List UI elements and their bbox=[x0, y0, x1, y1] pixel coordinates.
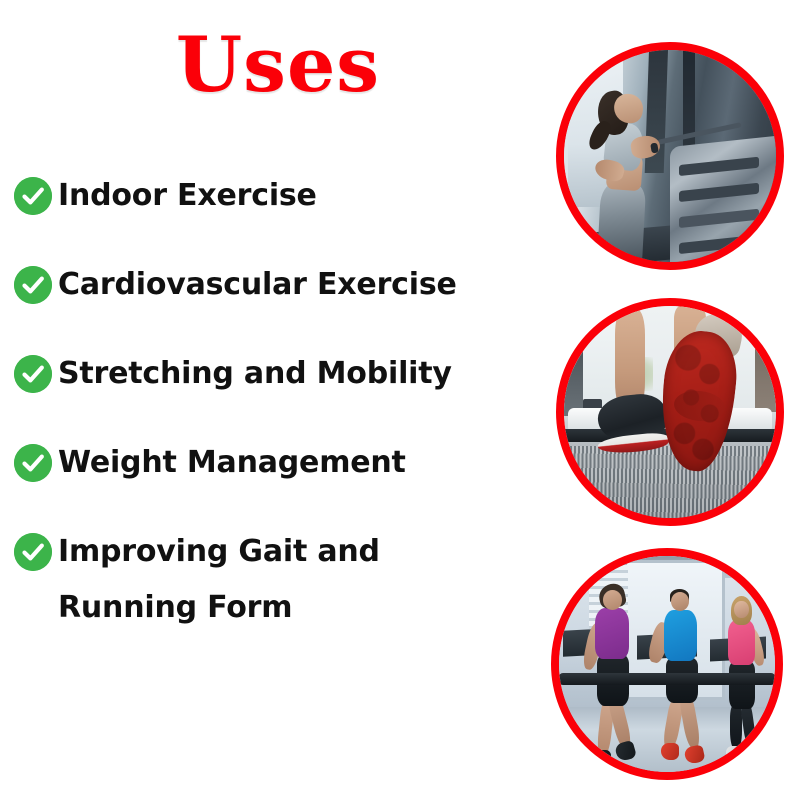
green-check-circle-icon bbox=[14, 444, 52, 482]
uses-checklist: Indoor Exercise Cardiovascular Exercise … bbox=[12, 168, 542, 636]
curtain-right bbox=[755, 306, 776, 412]
runner-tank-top bbox=[595, 608, 629, 659]
uses-infographic-poster: Uses Indoor Exercise Cardiovascular Exer… bbox=[0, 0, 800, 800]
list-item: Improving Gait and Running Form bbox=[12, 524, 542, 636]
runner-head bbox=[734, 601, 749, 619]
treadmill-console bbox=[670, 135, 776, 262]
list-item-label: Stretching and Mobility bbox=[58, 346, 542, 402]
green-check-circle-icon bbox=[14, 355, 52, 393]
runner-shoe-back bbox=[614, 740, 638, 763]
page-title: Uses bbox=[0, 22, 556, 108]
photo-running-shoes bbox=[556, 298, 784, 526]
runner-leg-front bbox=[730, 705, 741, 750]
list-item-label: Improving Gait and Running Form bbox=[58, 524, 542, 636]
green-check-circle-icon bbox=[14, 533, 52, 571]
green-check-circle-icon bbox=[14, 266, 52, 304]
photo-1-image bbox=[564, 50, 776, 262]
list-item-label: Indoor Exercise bbox=[58, 168, 542, 224]
runner-shoe-front bbox=[593, 750, 611, 768]
runner-head bbox=[603, 590, 622, 610]
list-item: Cardiovascular Exercise bbox=[12, 257, 542, 313]
treadmill-belt bbox=[564, 446, 776, 518]
runner-leggings bbox=[729, 662, 755, 710]
list-item-label: Weight Management bbox=[58, 435, 542, 491]
runner-head bbox=[671, 592, 689, 611]
runner-tank-top bbox=[728, 620, 755, 665]
photo-2-image bbox=[564, 306, 776, 518]
photo-treadmill-woman bbox=[556, 42, 784, 270]
runner-shoe-back bbox=[743, 742, 760, 759]
runner-tank-top bbox=[664, 610, 696, 662]
photo-3-image bbox=[559, 556, 775, 772]
photo-three-runners bbox=[551, 548, 783, 780]
curtain-left bbox=[564, 306, 583, 416]
list-item: Stretching and Mobility bbox=[12, 346, 542, 402]
list-item-label: Cardiovascular Exercise bbox=[58, 257, 542, 313]
runner-shoe-back bbox=[684, 744, 707, 765]
runner-shoe-front bbox=[726, 746, 741, 760]
list-item: Indoor Exercise bbox=[12, 168, 542, 224]
runner-figure bbox=[594, 92, 666, 262]
green-check-circle-icon bbox=[14, 177, 52, 215]
list-item: Weight Management bbox=[12, 435, 542, 491]
treadmill-handrail bbox=[559, 673, 775, 685]
runner-shoe-front bbox=[661, 743, 679, 760]
runner-legs bbox=[597, 183, 646, 262]
